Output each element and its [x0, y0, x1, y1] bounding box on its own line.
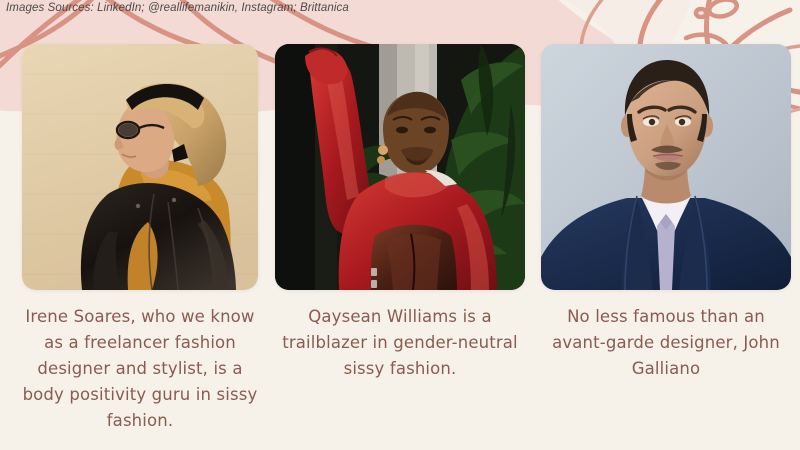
cards-row: Irene Soares, who we know as a freelance…	[0, 0, 800, 450]
card-john-galliano: No less famous than an avant-garde desig…	[541, 44, 791, 382]
caption-john-galliano: No less famous than an avant-garde desig…	[541, 304, 791, 382]
caption-qaysean-williams: Qaysean Williams is a trailblazer in gen…	[275, 304, 525, 382]
card-qaysean-williams: Qaysean Williams is a trailblazer in gen…	[275, 44, 525, 382]
card-irene-soares: Irene Soares, who we know as a freelance…	[22, 44, 258, 434]
image-sources-credit: Images Sources: LinkedIn; @reallifemanik…	[6, 2, 349, 14]
slide-canvas: Images Sources: LinkedIn; @reallifemanik…	[0, 0, 800, 450]
qaysean-williams-photo	[275, 44, 525, 290]
john-galliano-photo	[541, 44, 791, 290]
caption-irene-soares: Irene Soares, who we know as a freelance…	[22, 304, 258, 434]
irene-soares-photo	[22, 44, 258, 290]
